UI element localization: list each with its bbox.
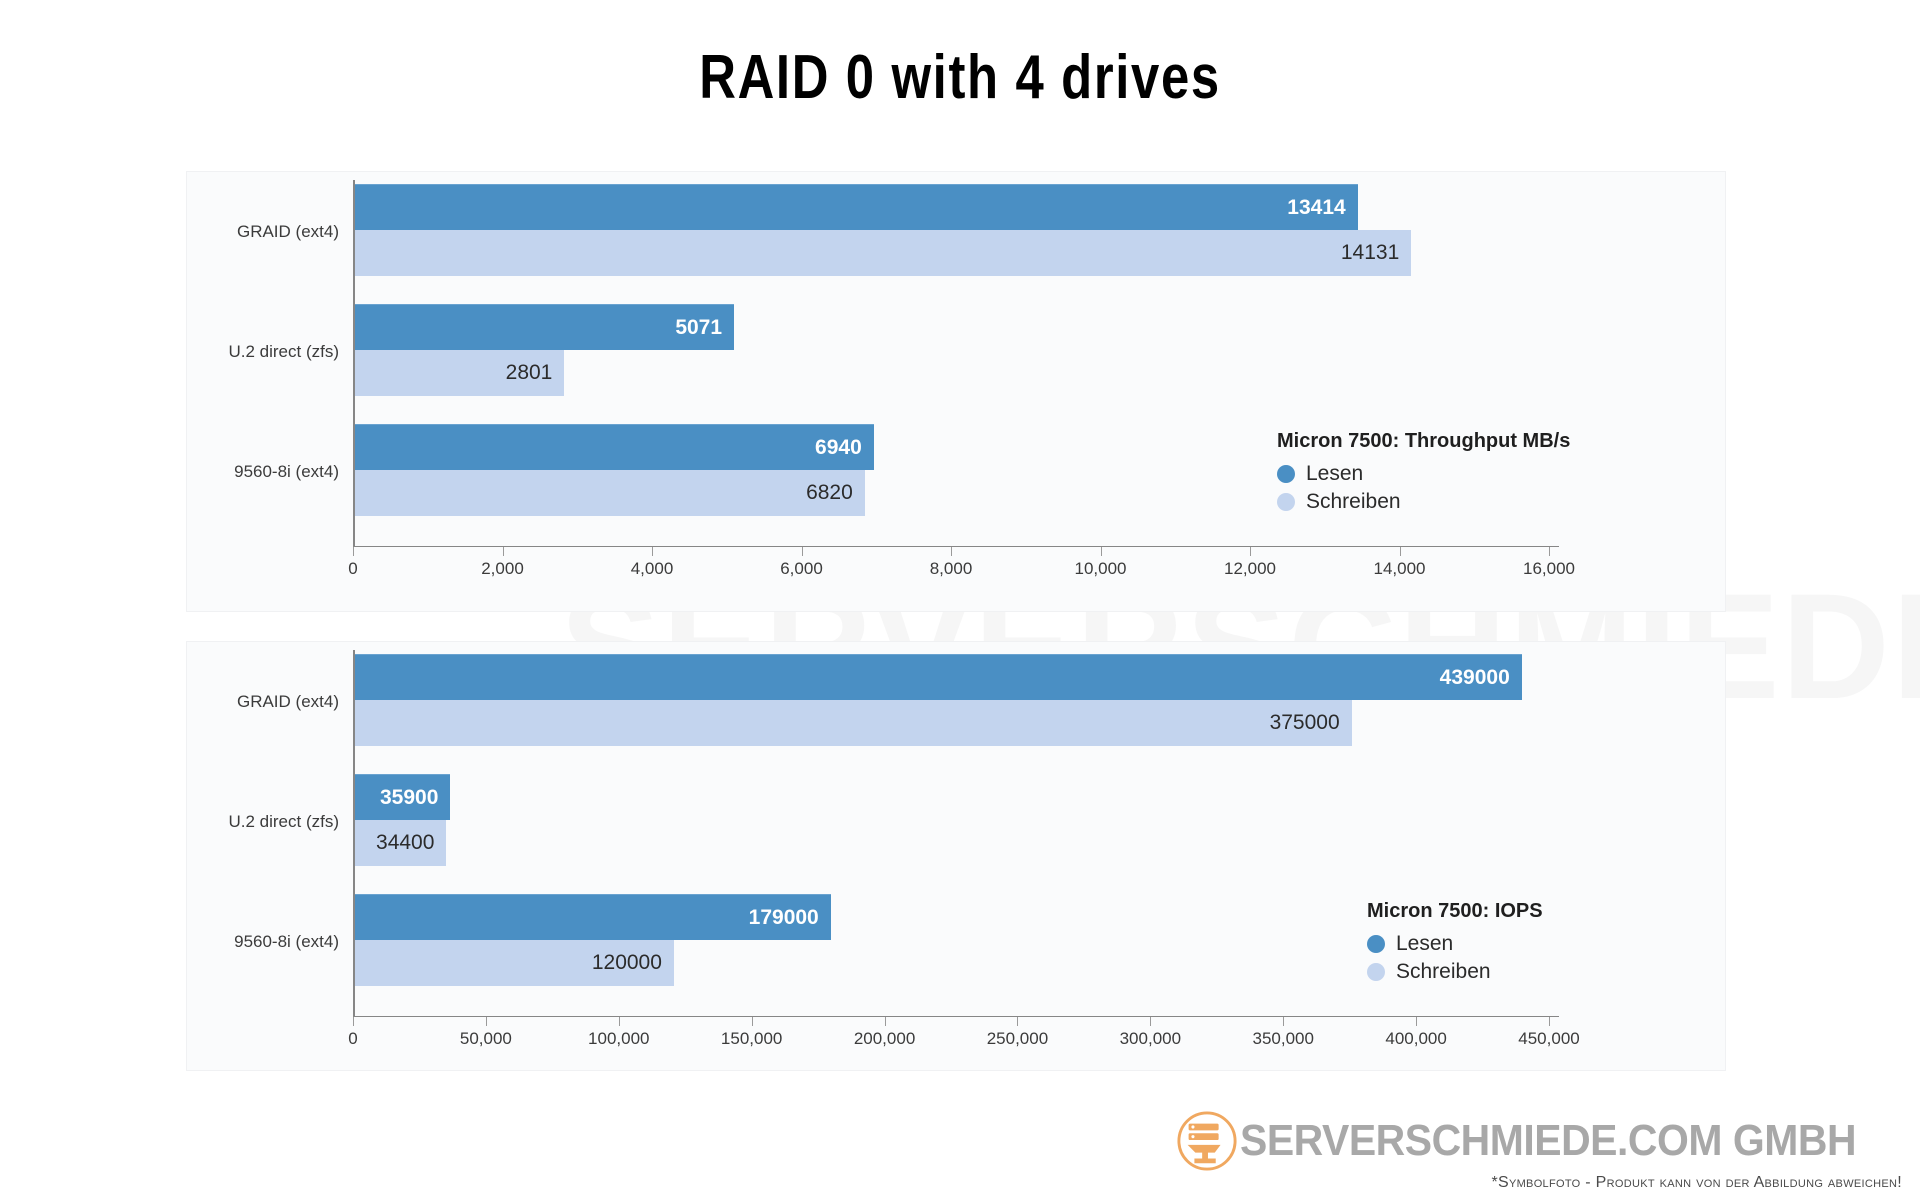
bar-write: 34400 bbox=[355, 820, 446, 866]
x-axis-tick-label: 16,000 bbox=[1523, 559, 1575, 579]
x-axis-tick bbox=[752, 1017, 753, 1026]
plot-area-iops: GRAID (ext4)439000375000U.2 direct (zfs)… bbox=[187, 642, 1725, 1070]
x-axis-tick-label: 250,000 bbox=[987, 1029, 1048, 1049]
bar-value-label: 2801 bbox=[506, 361, 553, 385]
plot-area-throughput: GRAID (ext4)1341414131U.2 direct (zfs)50… bbox=[187, 172, 1725, 611]
page-title: RAID 0 with 4 drives bbox=[173, 42, 1747, 113]
chart-iops: GRAID (ext4)439000375000U.2 direct (zfs)… bbox=[186, 641, 1726, 1071]
legend-swatch-icon bbox=[1367, 963, 1385, 981]
bar-value-label: 34400 bbox=[376, 831, 434, 855]
x-axis-tick-label: 0 bbox=[348, 559, 357, 579]
bar-read: 5071 bbox=[355, 304, 734, 350]
x-axis-tick-label: 8,000 bbox=[930, 559, 973, 579]
bar-write: 120000 bbox=[355, 940, 674, 986]
bar-write: 14131 bbox=[355, 230, 1411, 276]
bar-value-label: 35900 bbox=[380, 786, 438, 810]
bar-value-label: 375000 bbox=[1270, 711, 1340, 735]
x-axis-tick bbox=[503, 547, 504, 556]
x-axis-tick bbox=[1283, 1017, 1284, 1026]
bar-write: 2801 bbox=[355, 350, 564, 396]
x-axis-tick-label: 12,000 bbox=[1224, 559, 1276, 579]
x-axis-tick bbox=[1549, 1017, 1550, 1026]
bar-read: 6940 bbox=[355, 424, 874, 470]
category-label: 9560-8i (ext4) bbox=[187, 932, 339, 952]
x-axis-tick bbox=[1101, 547, 1102, 556]
bar-read: 13414 bbox=[355, 184, 1358, 230]
footer: SERVERSCHMIEDE.COM GMBH *Symbolfoto - Pr… bbox=[1176, 1110, 1902, 1192]
category-label: GRAID (ext4) bbox=[187, 222, 339, 242]
legend-item[interactable]: Schreiben bbox=[1367, 960, 1543, 984]
x-axis-tick bbox=[353, 1017, 354, 1026]
logo-text: SERVERSCHMIEDE.COM GMBH bbox=[1240, 1116, 1856, 1166]
bar-value-label: 6820 bbox=[806, 481, 853, 505]
x-axis-tick bbox=[1250, 547, 1251, 556]
legend-swatch-icon bbox=[1277, 465, 1295, 483]
x-axis-tick-label: 4,000 bbox=[631, 559, 674, 579]
x-axis-tick bbox=[353, 547, 354, 556]
x-axis-line bbox=[353, 1016, 1559, 1017]
anvil-icon bbox=[1176, 1110, 1238, 1172]
x-axis-tick bbox=[951, 547, 952, 556]
x-axis-tick bbox=[1549, 547, 1550, 556]
brand-logo: SERVERSCHMIEDE.COM GMBH bbox=[1176, 1110, 1902, 1172]
legend-iops: Micron 7500: IOPSLesenSchreiben bbox=[1367, 900, 1543, 988]
category-label: U.2 direct (zfs) bbox=[187, 812, 339, 832]
x-axis-tick-label: 2,000 bbox=[481, 559, 524, 579]
x-axis-tick-label: 400,000 bbox=[1385, 1029, 1446, 1049]
category-label: 9560-8i (ext4) bbox=[187, 462, 339, 482]
x-axis-tick-label: 150,000 bbox=[721, 1029, 782, 1049]
legend-label: Lesen bbox=[1396, 932, 1453, 956]
legend-swatch-icon bbox=[1367, 935, 1385, 953]
legend-swatch-icon bbox=[1277, 493, 1295, 511]
x-axis-tick-label: 10,000 bbox=[1075, 559, 1127, 579]
x-axis-tick-label: 300,000 bbox=[1120, 1029, 1181, 1049]
legend-throughput: Micron 7500: Throughput MB/sLesenSchreib… bbox=[1277, 430, 1570, 518]
x-axis-tick bbox=[1150, 1017, 1151, 1026]
x-axis-tick-label: 6,000 bbox=[780, 559, 823, 579]
x-axis-tick bbox=[885, 1017, 886, 1026]
legend-title: Micron 7500: Throughput MB/s bbox=[1277, 430, 1570, 453]
x-axis-tick-label: 14,000 bbox=[1374, 559, 1426, 579]
bar-value-label: 5071 bbox=[675, 316, 722, 340]
bar-value-label: 6940 bbox=[815, 436, 862, 460]
x-axis-tick-label: 350,000 bbox=[1252, 1029, 1313, 1049]
bar-read: 439000 bbox=[355, 654, 1522, 700]
x-axis-tick bbox=[619, 1017, 620, 1026]
bar-value-label: 13414 bbox=[1287, 196, 1345, 220]
legend-label: Lesen bbox=[1306, 462, 1363, 486]
category-label: GRAID (ext4) bbox=[187, 692, 339, 712]
bar-write: 6820 bbox=[355, 470, 865, 516]
legend-label: Schreiben bbox=[1306, 490, 1401, 514]
legend-item[interactable]: Lesen bbox=[1367, 932, 1543, 956]
x-axis-tick-label: 100,000 bbox=[588, 1029, 649, 1049]
x-axis-tick bbox=[652, 547, 653, 556]
bar-write: 375000 bbox=[355, 700, 1352, 746]
x-axis-tick-label: 0 bbox=[348, 1029, 357, 1049]
legend-item[interactable]: Schreiben bbox=[1277, 490, 1570, 514]
bar-read: 35900 bbox=[355, 774, 450, 820]
x-axis-tick bbox=[802, 547, 803, 556]
x-axis-line bbox=[353, 546, 1559, 547]
x-axis-tick bbox=[1017, 1017, 1018, 1026]
legend-label: Schreiben bbox=[1396, 960, 1491, 984]
chart-throughput: GRAID (ext4)1341414131U.2 direct (zfs)50… bbox=[186, 171, 1726, 612]
bar-value-label: 179000 bbox=[749, 906, 819, 930]
legend-title: Micron 7500: IOPS bbox=[1367, 900, 1543, 923]
bar-read: 179000 bbox=[355, 894, 831, 940]
disclaimer-text: *Symbolfoto - Produkt kann von der Abbil… bbox=[1491, 1174, 1902, 1192]
bar-value-label: 120000 bbox=[592, 951, 662, 975]
x-axis-tick bbox=[1416, 1017, 1417, 1026]
legend-item[interactable]: Lesen bbox=[1277, 462, 1570, 486]
x-axis-tick bbox=[486, 1017, 487, 1026]
bar-value-label: 439000 bbox=[1440, 666, 1510, 690]
bar-value-label: 14131 bbox=[1341, 241, 1399, 265]
x-axis-tick-label: 450,000 bbox=[1518, 1029, 1579, 1049]
x-axis-tick-label: 200,000 bbox=[854, 1029, 915, 1049]
x-axis-tick bbox=[1400, 547, 1401, 556]
x-axis-tick-label: 50,000 bbox=[460, 1029, 512, 1049]
category-label: U.2 direct (zfs) bbox=[187, 342, 339, 362]
